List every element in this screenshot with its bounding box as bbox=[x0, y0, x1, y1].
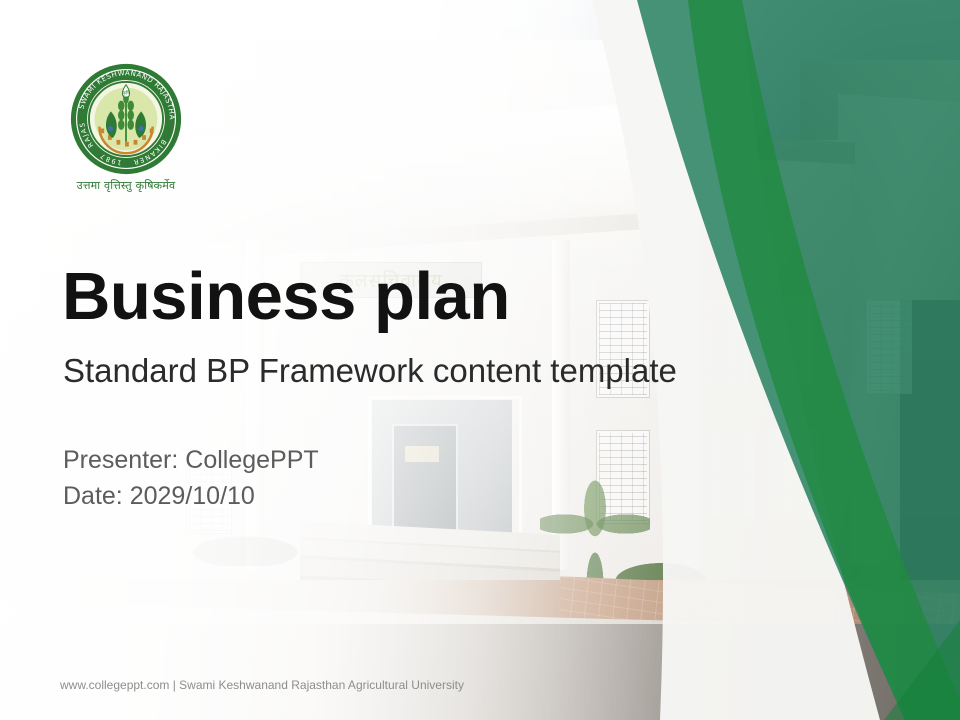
university-logo: SWAMI KESHWANAND RAJASTHAN AGRICULTURAL … bbox=[62, 62, 190, 202]
presentation-title-slide: कुलसचिवालय bbox=[0, 0, 960, 720]
slide-subtitle: Standard BP Framework content template bbox=[63, 352, 677, 390]
slide-title: Business plan bbox=[62, 263, 510, 330]
university-emblem-icon: SWAMI KESHWANAND RAJASTHAN AGRICULTURAL … bbox=[69, 62, 183, 176]
presenter-line: Presenter: CollegePPT bbox=[63, 442, 319, 478]
logo-motto: उत्तमा वृत्तिस्तु कृषिकर्मेव bbox=[62, 178, 190, 193]
slide-footer: www.collegeppt.com | Swami Keshwanand Ra… bbox=[60, 676, 480, 695]
slide-meta: Presenter: CollegePPT Date: 2029/10/10 bbox=[63, 442, 319, 515]
date-line: Date: 2029/10/10 bbox=[63, 478, 319, 514]
